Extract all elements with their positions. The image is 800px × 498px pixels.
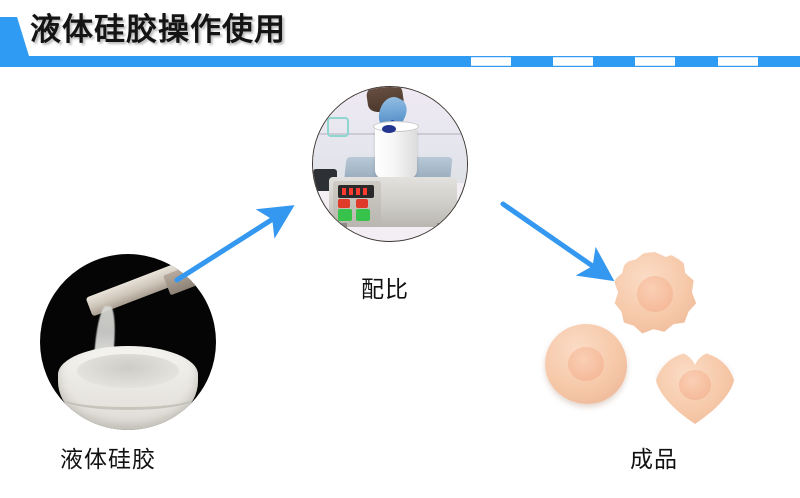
dash-gap [471,57,511,66]
header-accent-tab [0,17,30,56]
pad-center [568,347,604,381]
scale-red-key [338,199,350,208]
bucket-rim-graphic [373,121,419,132]
heart-shaped-pad [655,352,735,426]
wall-poster-graphic [327,117,349,137]
scale-red-key [356,199,368,208]
dash-gap [635,57,675,66]
scale-green-key [338,209,352,221]
scale-foot-graphic [335,223,347,231]
step-3-caption: 成品 [630,440,678,474]
round-shaped-pad [545,324,627,404]
scale-display-graphic [338,185,374,198]
header-dash-pattern [471,56,800,67]
process-diagram: 液体硅胶 配比 [0,72,800,498]
tub-interior-graphic [77,354,179,388]
measuring-bucket-graphic [375,125,417,179]
pad-center [679,370,711,400]
step-2-photo-weighing [312,86,468,242]
step-1-caption: 液体硅胶 [60,440,156,474]
scale-green-key [356,209,370,221]
arrow-step1-to-step2 [165,192,315,292]
step-2-caption: 配比 [361,270,409,304]
bucket-liquid-graphic [382,125,396,133]
silicone-tub-graphic [58,346,198,430]
flower-shaped-pad [613,252,697,336]
dash-gap [553,57,593,66]
step-3-photo-finished-products [545,252,755,432]
pad-center [637,276,673,312]
tub-rim-graphic [62,386,194,410]
scale-foot-graphic [437,223,449,231]
dash-gap [718,57,758,66]
page-header: 液体硅胶操作使用 [0,0,800,72]
page-title: 液体硅胶操作使用 [30,9,286,51]
